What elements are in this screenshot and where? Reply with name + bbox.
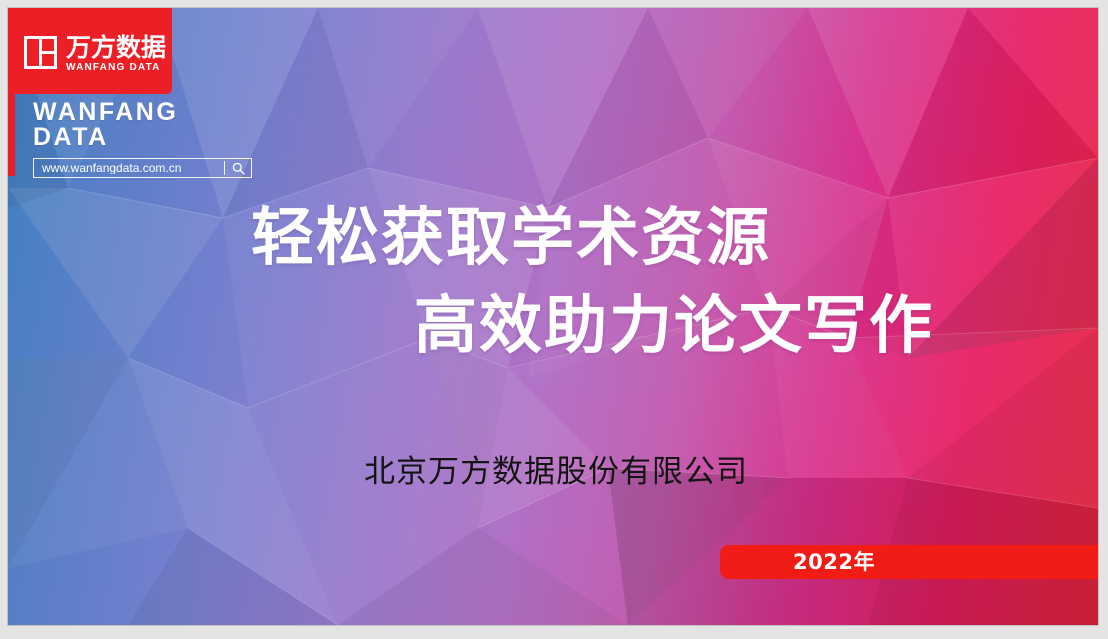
logo-english-name: WANFANG DATA bbox=[66, 62, 161, 74]
brand-text: WANFANG DATA bbox=[33, 100, 178, 150]
logo-wordmark: 万方数据 WANFANG DATA bbox=[66, 35, 166, 74]
logo-chinese-name: 万方数据 bbox=[66, 35, 166, 60]
brand-text-line2: DATA bbox=[33, 125, 178, 150]
slide-headline: 轻松获取学术资源 高效助力论文写作 bbox=[8, 194, 1098, 370]
logo-inner: 万方数据 WANFANG DATA bbox=[24, 35, 166, 74]
slide-subtitle: 北京万方数据股份有限公司 bbox=[8, 453, 1098, 491]
brand-text-line1: WANFANG bbox=[33, 100, 178, 125]
presentation-page: 万方数据 WANFANG DATA WANFANG DATA www.wanfa… bbox=[0, 0, 1108, 639]
red-accent-bar bbox=[8, 94, 15, 176]
title-slide: 万方数据 WANFANG DATA WANFANG DATA www.wanfa… bbox=[8, 8, 1098, 625]
wanfang-square-logo-icon bbox=[24, 36, 57, 69]
year-badge-label: 2022年 bbox=[720, 552, 875, 573]
headline-line-2: 高效助力论文写作 bbox=[8, 282, 1098, 370]
website-url-text[interactable]: www.wanfangdata.com.cn bbox=[34, 162, 224, 174]
year-badge-bar: 2022年 bbox=[720, 545, 1098, 579]
wanfang-logo-block: 万方数据 WANFANG DATA bbox=[8, 8, 172, 94]
website-search-box[interactable]: www.wanfangdata.com.cn bbox=[33, 158, 252, 178]
headline-line-1: 轻松获取学术资源 bbox=[8, 194, 1098, 282]
magnifier-icon[interactable] bbox=[225, 159, 251, 177]
